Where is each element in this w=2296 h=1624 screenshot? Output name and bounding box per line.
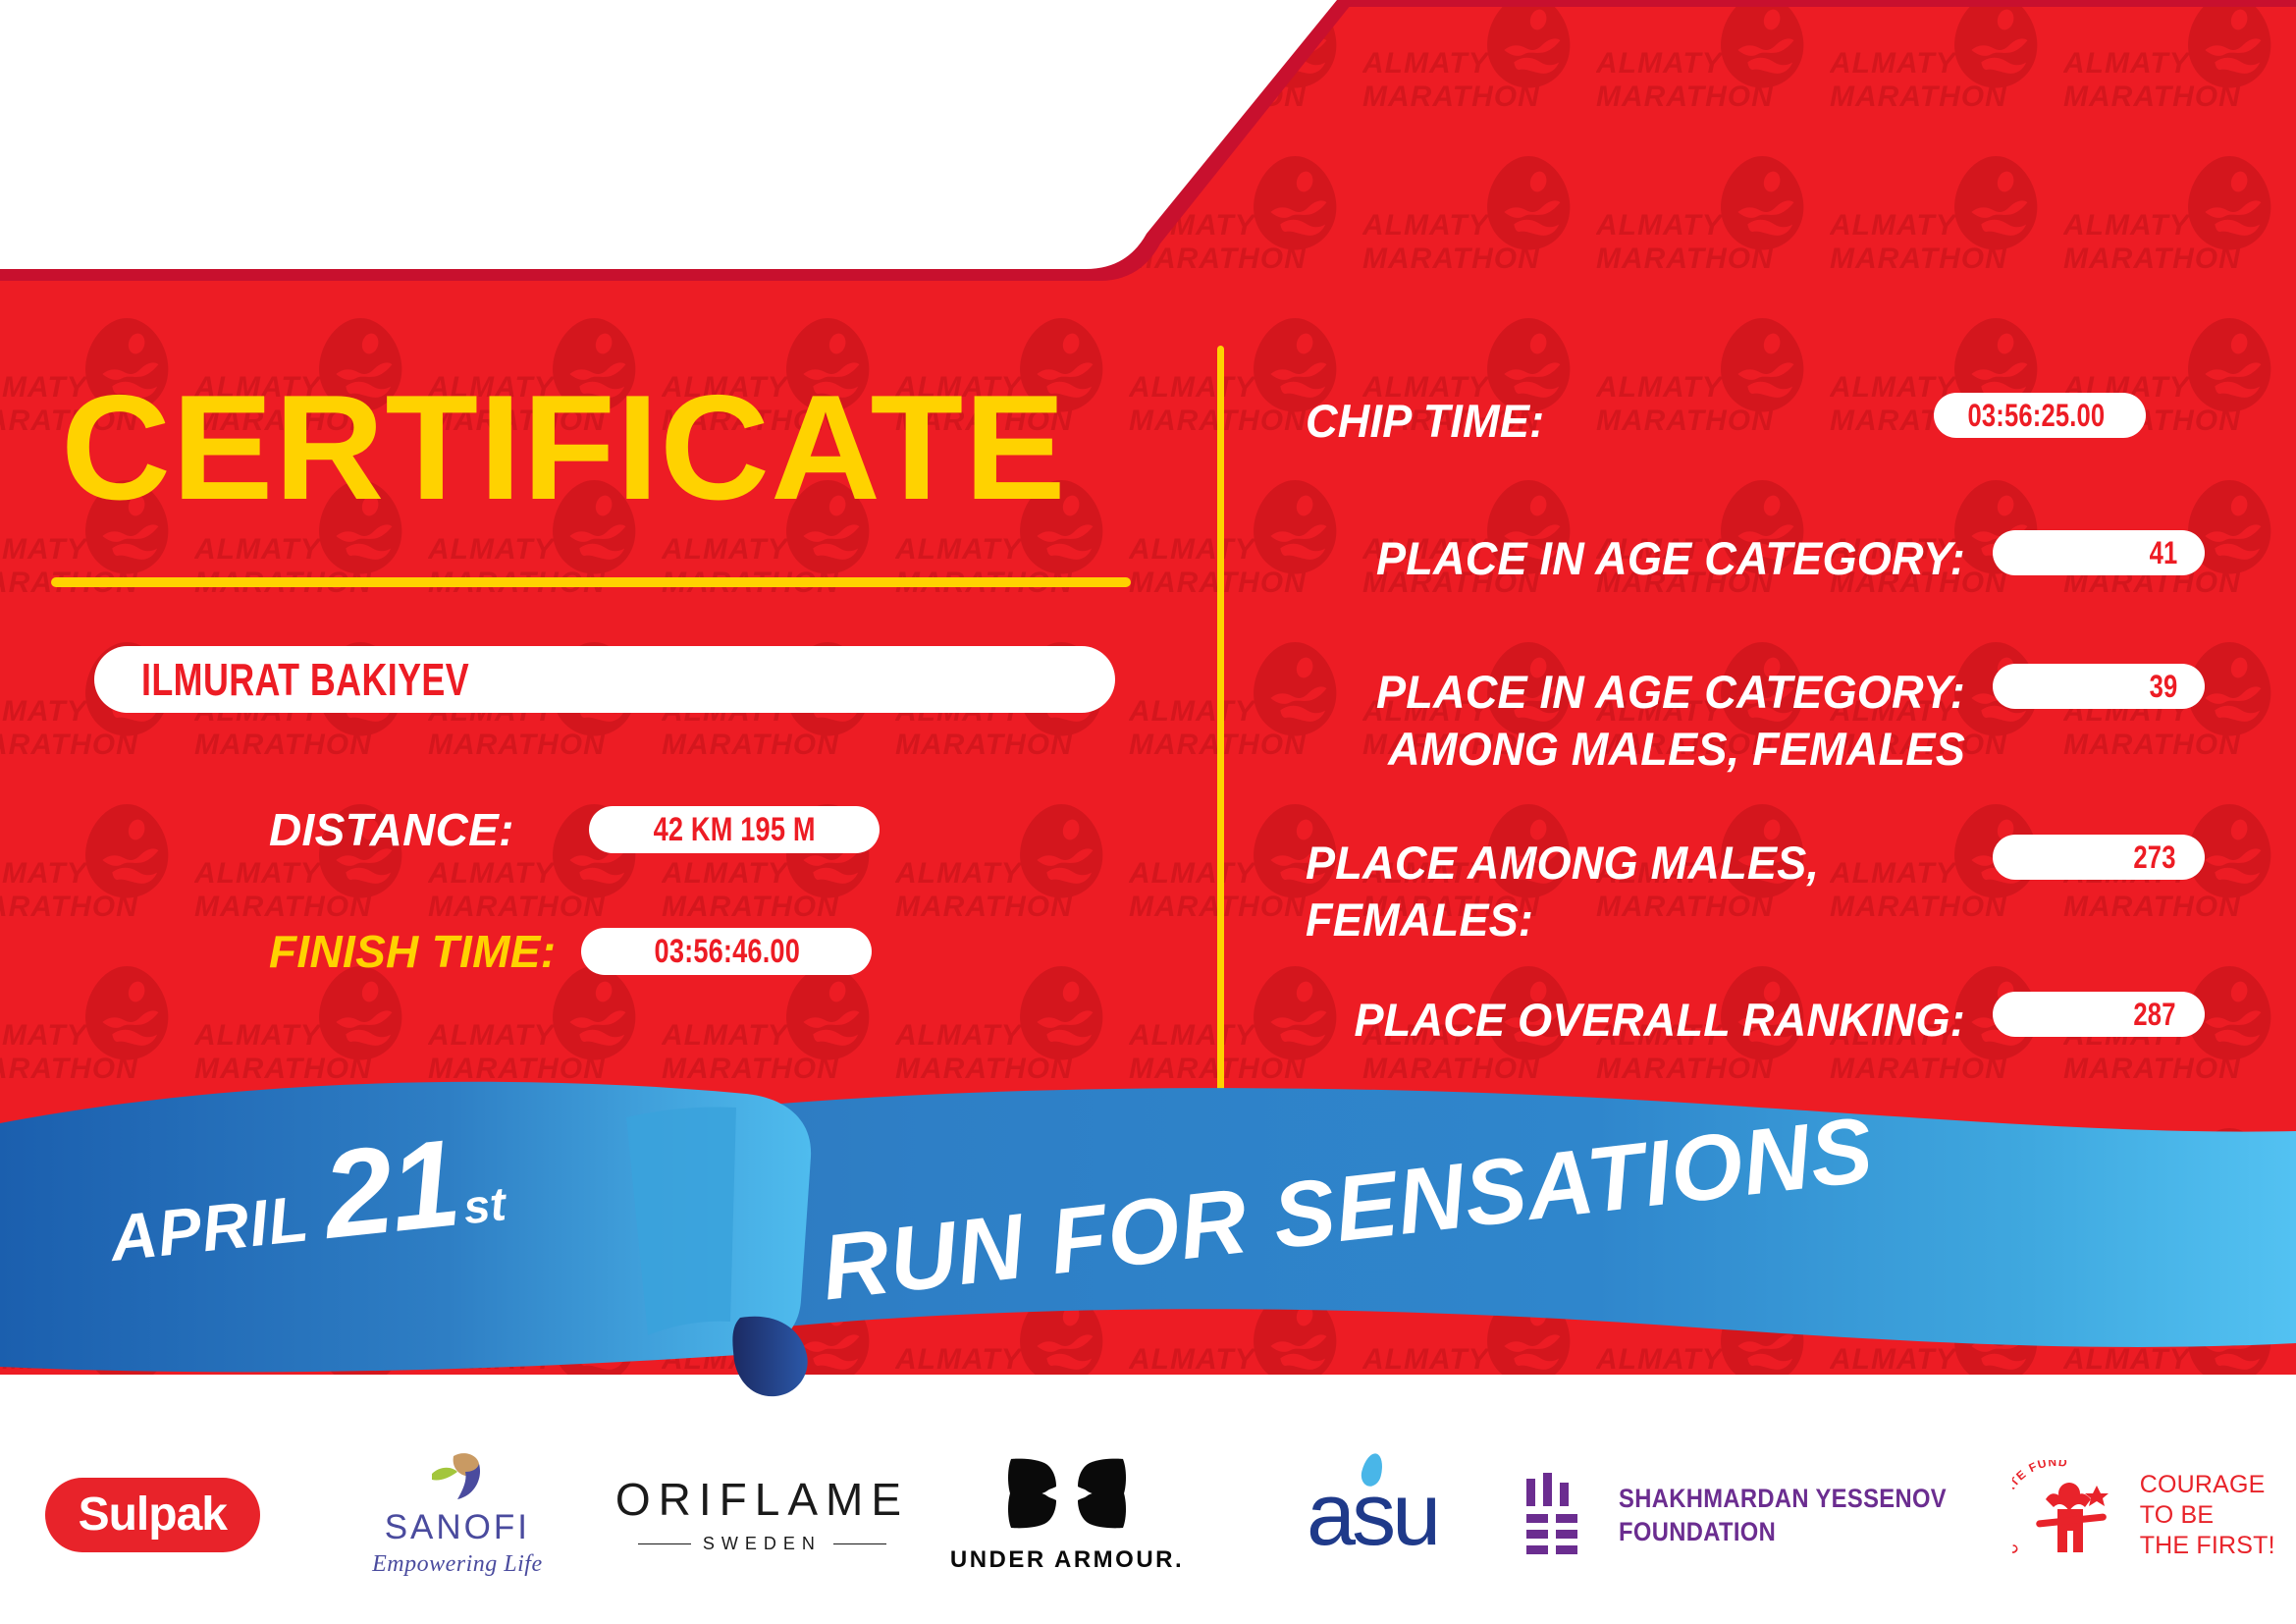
under-armour-wordmark: UNDER ARMOUR. [950,1546,1184,1574]
place-age-category-label: PLACE IN AGE CATEGORY: [1306,530,1965,587]
stat-row-place-among-males-females: PLACE AMONG MALES,FEMALES: 273 [1306,835,2205,948]
finish-time-label: FINISH TIME: [269,925,556,978]
corporate-fund-line3: THE FIRST! [2140,1531,2275,1561]
yessenov-line1: SHAKHMARDAN YESSENOV [1619,1482,1947,1515]
place-overall-ranking-label: PLACE OVERALL RANKING: [1306,992,1965,1049]
corporate-fund-line2: TO BE [2140,1500,2275,1531]
participant-name-value: ILMURAT BAKIYEV [141,653,469,706]
stat-row-distance: DISTANCE: 42 KM 195 M [269,803,880,856]
distance-label: DISTANCE: [269,803,514,856]
vertical-divider [1217,346,1224,1094]
sanofi-wordmark: SANOFI [372,1509,543,1547]
oriflame-wordmark: ORIFLAME [615,1477,909,1522]
marathon-certificate: ALMATY MARATHON ALMATY MARAT [0,0,2296,1624]
finish-time-value: 03:56:46.00 [654,933,799,971]
sulpak-wordmark: Sulpak [45,1478,260,1552]
yessenov-line2: FOUNDATION [1619,1515,1947,1548]
participant-name-field: ILMURAT BAKIYEV [94,646,1115,713]
oriflame-rule-left [638,1543,691,1544]
place-age-category-value-pill: 41 [1993,530,2205,575]
sponsor-oriflame: ORIFLAME SWEDEN [610,1436,915,1594]
oriflame-rule-right [833,1543,886,1544]
sponsor-under-armour: UNDER ARMOUR. [915,1436,1220,1594]
stat-row-place-overall-ranking: PLACE OVERALL RANKING: 287 [1306,992,2205,1049]
place-age-category-among-value-pill: 39 [1993,664,2205,709]
corporate-fund-runner-icon: CORPORATE FUND [2012,1460,2128,1570]
corporate-fund-slogan: COURAGE TO BE THE FIRST! [2140,1470,2275,1561]
corporate-fund-line1: COURAGE [2140,1470,2275,1500]
place-age-category-among-label: PLACE IN AGE CATEGORY:AMONG MALES, FEMAL… [1306,664,1965,778]
sanofi-swoosh-icon [428,1452,487,1503]
place-among-males-females-label: PLACE AMONG MALES,FEMALES: [1306,835,1965,948]
event-day: 21 [317,1110,465,1266]
distance-value-pill: 42 KM 195 M [589,806,880,853]
sponsor-logo-strip: Sulpak SANOFI Empowering Life ORIFLAME [0,1406,2296,1624]
title-underline-rule [51,577,1131,587]
event-day-suffix: st [461,1177,508,1235]
sponsor-corporate-fund: CORPORATE FUND COURAGE TO BE THE FIRST! [1991,1436,2296,1594]
chip-time-value-pill: 03:56:25.00 [1934,393,2146,438]
distance-value: 42 KM 195 M [653,811,815,849]
stat-row-place-age-category: PLACE IN AGE CATEGORY: 41 [1306,530,2205,587]
stat-row-chip-time: CHIP TIME: 03:56:25.00 [1306,393,2146,450]
sponsor-yessenov-foundation: SHAKHMARDAN YESSENOV FOUNDATION [1524,1436,1992,1594]
stat-row-place-age-category-among: PLACE IN AGE CATEGORY:AMONG MALES, FEMAL… [1306,664,2205,778]
chip-time-label: CHIP TIME: [1306,393,1908,450]
place-among-males-females-value-pill: 273 [1993,835,2205,880]
stat-row-finish-time: FINISH TIME: 03:56:46.00 [269,925,872,978]
event-month: APRIL [107,1180,313,1275]
sponsor-asu: asu [1219,1436,1524,1594]
place-overall-ranking-value-pill: 287 [1993,992,2205,1037]
sponsor-sulpak: Sulpak [0,1436,305,1594]
place-age-category-value: 41 [2150,535,2178,571]
asu-wordmark: asu [1307,1471,1437,1559]
finish-time-value-pill: 03:56:46.00 [581,928,872,975]
sanofi-tagline: Empowering Life [372,1551,543,1578]
under-armour-icon [1005,1457,1129,1530]
oriflame-sub-wordmark: SWEDEN [703,1534,822,1554]
chip-time-value: 03:56:25.00 [1968,398,2106,434]
place-among-males-females-value: 273 [2133,839,2175,876]
place-age-category-among-value: 39 [2150,669,2178,705]
header-white-panel [0,0,1394,295]
yessenov-bars-icon [1524,1473,1593,1557]
sponsor-sanofi: SANOFI Empowering Life [305,1436,611,1594]
place-overall-ranking-value: 287 [2133,997,2175,1033]
page-title: CERTIFICATE [61,373,1172,522]
